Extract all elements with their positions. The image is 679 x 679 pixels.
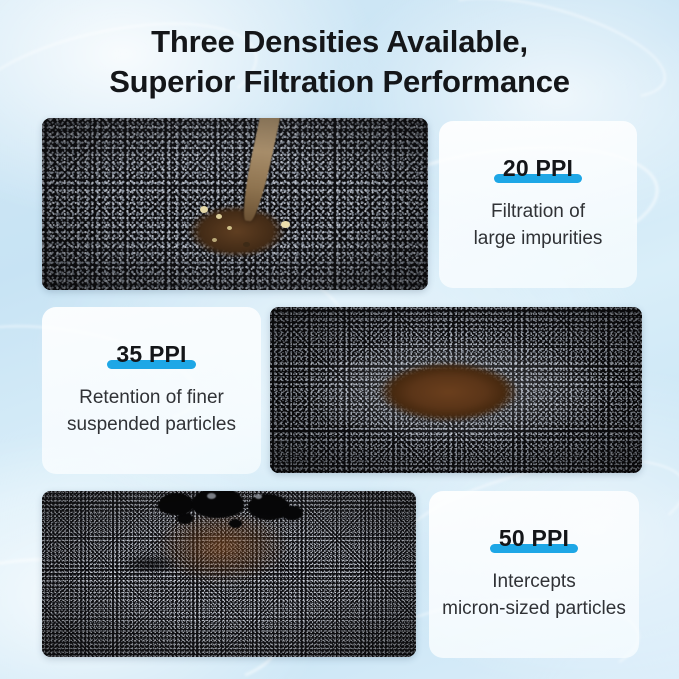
feature-row-50ppi: 50 PPI Intercepts micron-sized particles	[42, 490, 637, 658]
ppi-badge-50: 50 PPI	[499, 525, 569, 552]
feature-description: Intercepts micron-sized particles	[442, 569, 626, 623]
ppi-label: 50 PPI	[499, 525, 569, 552]
feature-description: Filtration of large impurities	[474, 199, 603, 253]
photo-vignette	[42, 491, 416, 657]
feature-card-50ppi: 50 PPI Intercepts micron-sized particles	[429, 491, 639, 658]
ppi-label: 35 PPI	[116, 341, 186, 368]
feature-card-20ppi: 20 PPI Filtration of large impurities	[439, 121, 637, 288]
page-title-line-1: Three Densities Available,	[0, 22, 679, 62]
photo-vignette	[42, 118, 428, 290]
ppi-badge-35: 35 PPI	[116, 341, 186, 368]
page-title-line-2: Superior Filtration Performance	[0, 62, 679, 102]
page-title: Three Densities Available, Superior Filt…	[0, 22, 679, 103]
ppi-label: 20 PPI	[503, 155, 573, 182]
feature-description: Retention of finer suspended particles	[67, 385, 236, 439]
feature-row-35ppi: 35 PPI Retention of finer suspended part…	[42, 305, 640, 475]
feature-row-20ppi: 20 PPI Filtration of large impurities	[42, 118, 637, 290]
foam-20ppi-photo	[42, 118, 428, 290]
foam-50ppi-photo	[42, 491, 416, 657]
photo-vignette	[270, 307, 642, 473]
ppi-badge-20: 20 PPI	[503, 155, 573, 182]
feature-card-35ppi: 35 PPI Retention of finer suspended part…	[42, 307, 261, 474]
foam-35ppi-photo	[270, 307, 642, 473]
